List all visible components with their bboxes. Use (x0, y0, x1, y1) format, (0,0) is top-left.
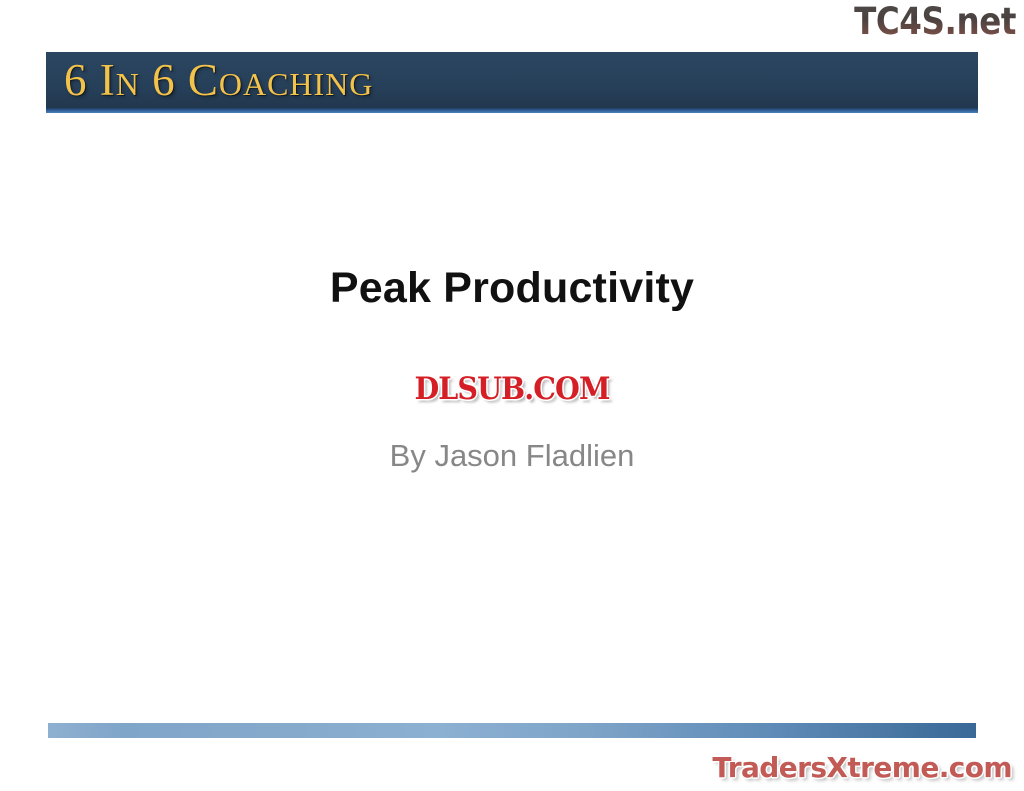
footer-gradient-rule (48, 723, 976, 738)
tc4s-watermark: TC4S.net (854, 2, 1016, 42)
dlsub-watermark: DLSUB.COM (408, 370, 616, 409)
slide-title: Peak Productivity (0, 262, 1024, 314)
presentation-slide: TC4S.net 6 In 6 Coaching Peak Productivi… (0, 0, 1024, 791)
slide-byline: By Jason Fladlien (0, 437, 1024, 475)
slide-header-banner: 6 In 6 Coaching (46, 52, 978, 113)
course-brand-title: 6 In 6 Coaching (64, 53, 373, 107)
dlsub-watermark-wrap: DLSUB.COM (0, 370, 1024, 409)
slide-body: Peak Productivity DLSUB.COM By Jason Fla… (0, 262, 1024, 475)
tradersxtreme-watermark: TradersXtreme.com (712, 752, 1012, 784)
